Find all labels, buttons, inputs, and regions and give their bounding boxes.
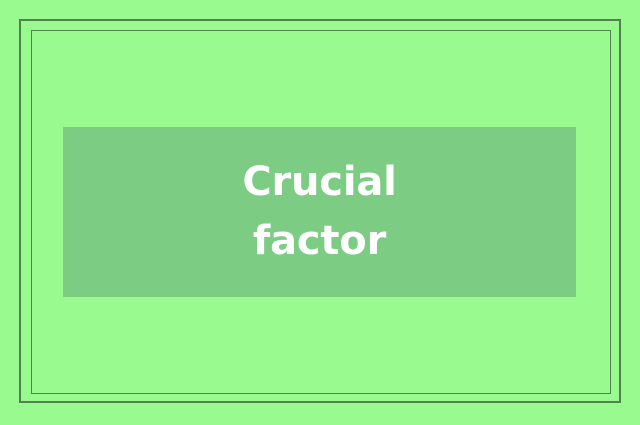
content-panel: Crucial factor: [63, 127, 576, 297]
slide-canvas: Crucial factor: [0, 0, 640, 425]
headline-line-2: factor: [242, 212, 396, 271]
headline-text: Crucial factor: [242, 153, 396, 271]
headline-line-1: Crucial: [242, 153, 396, 212]
